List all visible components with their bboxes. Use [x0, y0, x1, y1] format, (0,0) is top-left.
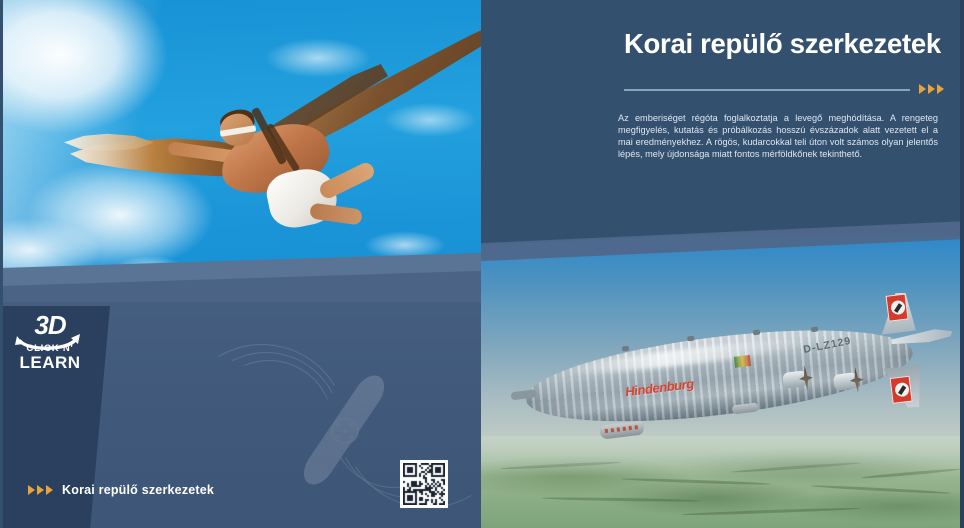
left-edge — [0, 0, 3, 528]
airship-engine — [833, 372, 859, 391]
intro-paragraph: Az emberiséget régóta foglalkoztatja a l… — [618, 113, 938, 161]
hindenburg-airship: Hindenburg D-LZ129 — [481, 300, 964, 460]
airship-hull-stripes — [521, 313, 918, 438]
airship-engine — [782, 370, 808, 389]
airship-gondola — [599, 420, 644, 439]
triangle-icon — [928, 84, 935, 94]
triangle-icon — [937, 84, 944, 94]
title-arrows — [919, 84, 944, 94]
footer-left: Korai repülő szerkezetek — [28, 483, 214, 497]
title-rule — [624, 89, 910, 91]
footer-arrows — [28, 485, 53, 495]
page-title: Korai repülő szerkezetek — [624, 28, 941, 60]
airship-emblem — [734, 355, 751, 368]
curved-arrow-icon — [14, 332, 84, 354]
right-edge — [960, 0, 964, 528]
triangle-icon — [46, 485, 53, 495]
leg — [317, 160, 377, 201]
triangle-icon — [919, 84, 926, 94]
badge-wordmark: LEARN — [6, 354, 94, 372]
tail-fin-marking — [890, 376, 913, 404]
triangle-icon — [37, 485, 44, 495]
3d-click-n-learn-badge[interactable]: 3D CLICK N' LEARN — [6, 312, 94, 384]
tail-fin-marking — [886, 294, 909, 322]
icarus-winged-man-illustration — [60, 10, 480, 240]
right-panel: Hindenburg D-LZ129 Korai repülő szerkeze… — [481, 0, 964, 528]
footer-label: Korai repülő szerkezetek — [62, 483, 214, 497]
airship-rear-gondola — [732, 402, 759, 414]
left-panel: 3D CLICK N' LEARN Korai repülő szerkezet… — [0, 0, 481, 528]
poster-page: 3D CLICK N' LEARN Korai repülő szerkezet… — [0, 0, 964, 528]
triangle-icon — [28, 485, 35, 495]
qr-code[interactable] — [400, 460, 448, 508]
